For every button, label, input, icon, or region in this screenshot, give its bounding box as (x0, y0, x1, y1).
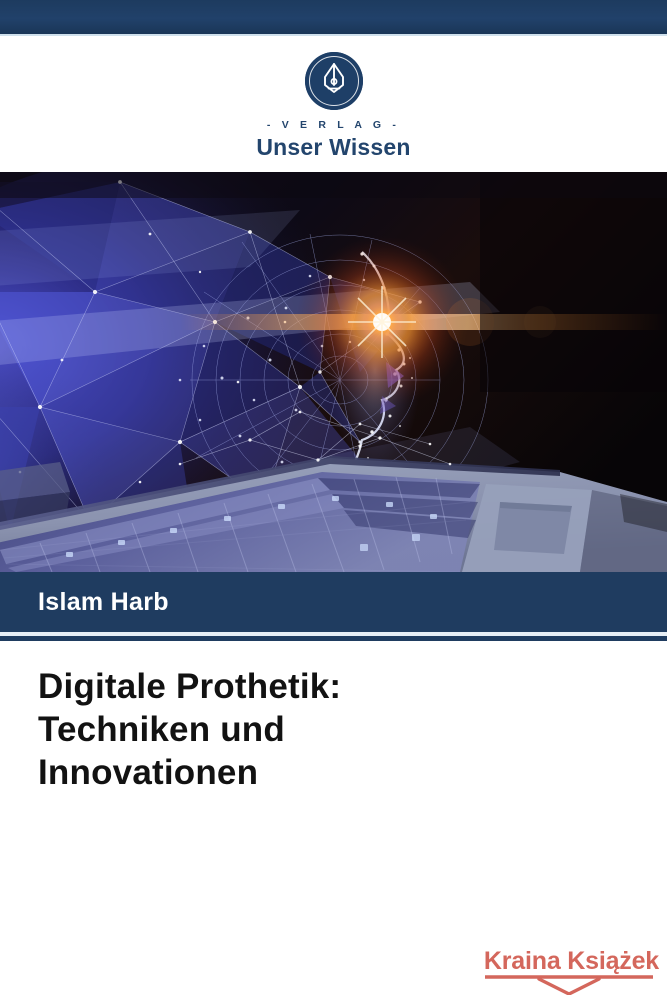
open-book-icon (479, 975, 659, 995)
title-line-1: Digitale Prothetik: (38, 665, 628, 708)
publisher-logo-mark (305, 52, 363, 110)
retailer-watermark-label: Kraina Książek (479, 948, 659, 975)
publisher-name: Unser Wissen (256, 134, 410, 161)
author-name: Islam Harb (38, 588, 169, 617)
publisher-tagline: - V E R L A G - (267, 119, 400, 131)
title-line-2: Techniken und (38, 708, 628, 751)
author-band: Islam Harb (0, 572, 667, 632)
title-line-3: Innovationen (38, 751, 628, 794)
retailer-watermark: Kraina Książek (479, 948, 659, 996)
cover-photograph (0, 172, 667, 572)
top-accent-hairline (0, 34, 667, 36)
book-title: Digitale Prothetik: Techniken und Innova… (38, 665, 628, 794)
top-accent-bar (0, 0, 667, 34)
fountain-pen-nib-in-circle-icon (321, 62, 347, 101)
publisher-logo-block: - V E R L A G - Unser Wissen (0, 40, 667, 170)
band-bottom-rule (0, 636, 667, 641)
